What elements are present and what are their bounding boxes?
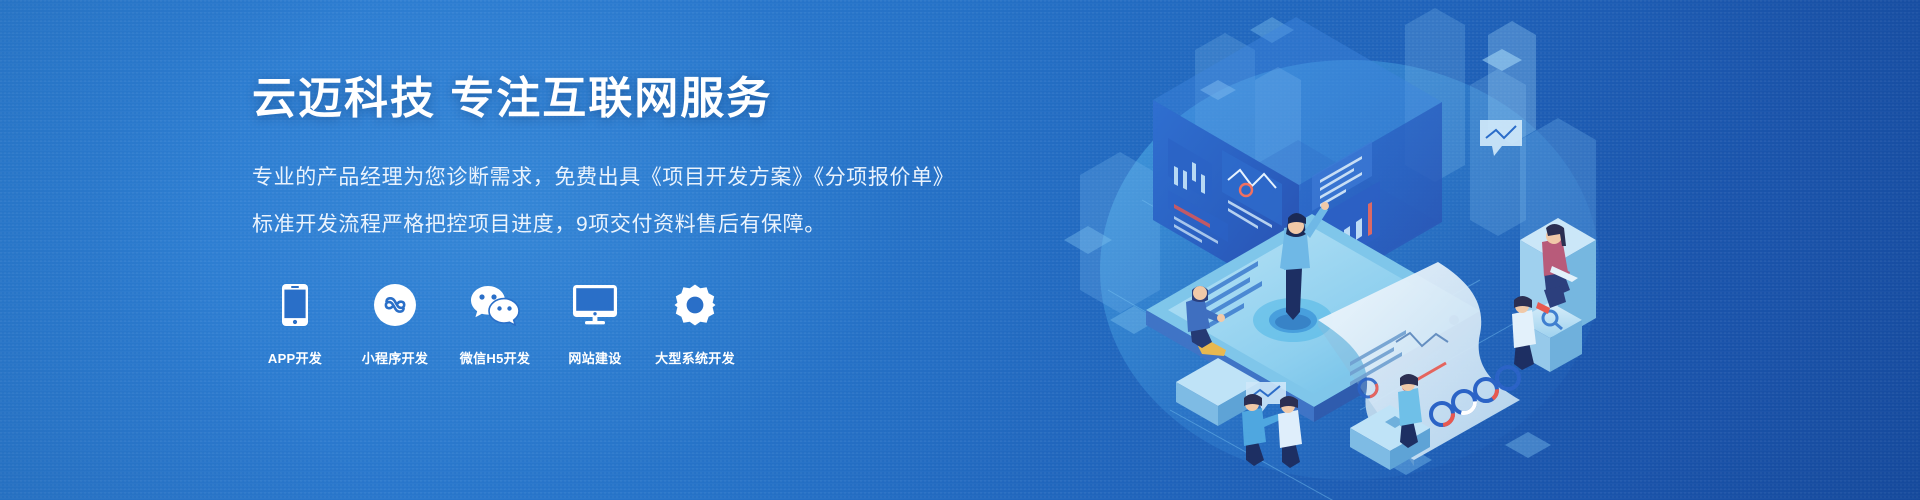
service-item-app[interactable]: APP开发 <box>252 282 338 367</box>
banner-copy: 云迈科技 专注互联网服务 专业的产品经理为您诊断需求，免费出具《项目开发方案》《… <box>252 74 1012 235</box>
mini-program-icon <box>374 282 416 328</box>
wechat-icon <box>470 282 520 328</box>
mobile-phone-icon <box>282 282 308 328</box>
service-item-website[interactable]: 网站建设 <box>552 282 638 367</box>
banner-subtitle-line-2: 标准开发流程严格把控项目进度，9项交付资料售后有保障。 <box>252 214 1012 235</box>
service-item-wechat-h5[interactable]: 微信H5开发 <box>452 282 538 367</box>
hero-banner: 云迈科技 专注互联网服务 专业的产品经理为您诊断需求，免费出具《项目开发方案》《… <box>0 0 1920 500</box>
service-label: APP开发 <box>268 348 322 367</box>
service-list: APP开发 小程序开发 <box>252 282 752 367</box>
service-label: 微信H5开发 <box>460 348 530 367</box>
service-label: 小程序开发 <box>362 348 429 367</box>
banner-title: 云迈科技 专注互联网服务 <box>252 74 1012 125</box>
gear-icon <box>674 282 716 328</box>
service-item-mini-program[interactable]: 小程序开发 <box>352 282 438 367</box>
isometric-illustration <box>1050 0 1610 500</box>
service-label: 网站建设 <box>568 348 621 367</box>
banner-subtitle-line-1: 专业的产品经理为您诊断需求，免费出具《项目开发方案》《分项报价单》 <box>252 167 1012 188</box>
monitor-icon <box>573 282 617 328</box>
service-label: 大型系统开发 <box>655 348 735 367</box>
service-item-large-system[interactable]: 大型系统开发 <box>652 282 738 367</box>
